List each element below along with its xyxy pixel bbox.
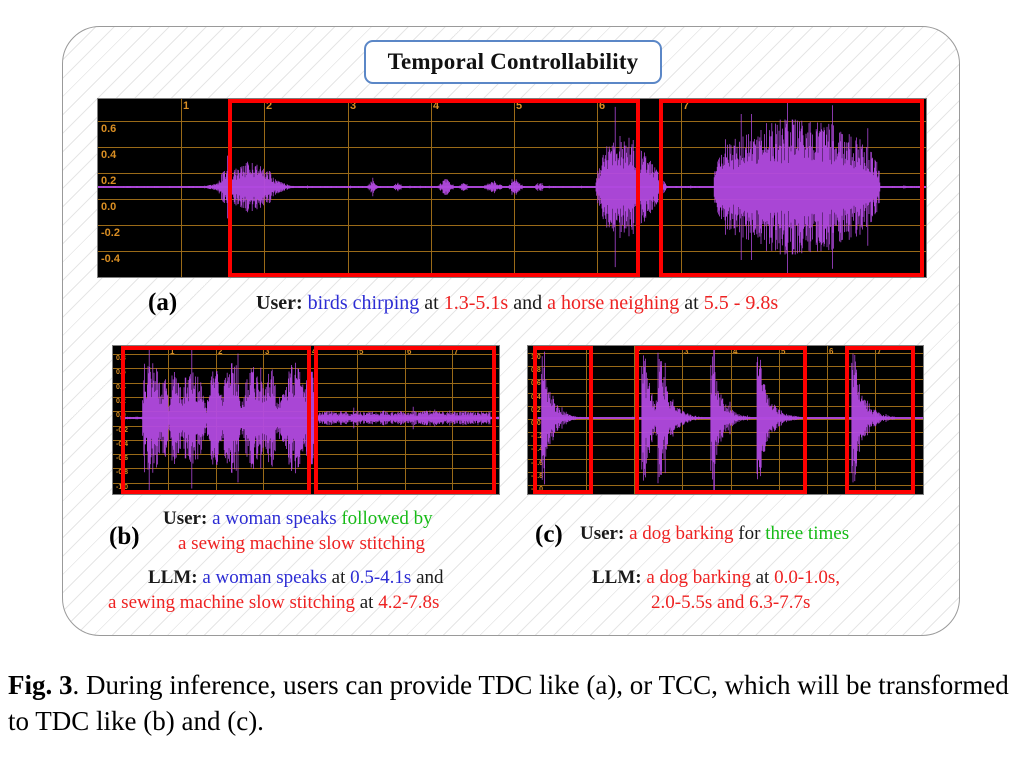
caption-run: a sewing machine slow stitching	[178, 533, 425, 554]
panel-letter-b: (b)	[109, 523, 140, 551]
caption-run: at	[355, 592, 378, 613]
caption-run: User:	[163, 508, 207, 529]
caption-run: a dog barking	[642, 567, 751, 588]
caption-run: User:	[580, 523, 624, 544]
panel-c-caption-line4: 2.0-5.5s and 6.3-7.7s	[651, 592, 810, 614]
waveform-panel-a[interactable]: 0.60.40.20.0-0.2-0.4-0.6-0.81234567	[97, 98, 927, 278]
panel-b-caption-line4: a sewing machine slow stitching at 4.2-7…	[108, 592, 439, 614]
caption-run: for	[734, 523, 766, 544]
caption-run: LLM:	[148, 567, 198, 588]
panel-a-caption-line1: User: birds chirping at 1.3-5.1s and a h…	[256, 292, 778, 315]
caption-run: a horse neighing	[547, 292, 679, 314]
caption-run: and	[508, 292, 547, 314]
waveform-trace	[528, 346, 923, 494]
caption-run: 1.3-5.1s	[444, 292, 508, 314]
page-title: Temporal Controllability	[388, 49, 639, 75]
caption-run: 2.0-5.5s and 6.3-7.7s	[651, 592, 810, 613]
caption-run: 5.5 - 9.8s	[704, 292, 778, 314]
panel-letter-a: (a)	[148, 289, 177, 317]
title-box: Temporal Controllability	[364, 40, 662, 84]
caption-run: a woman speaks	[198, 567, 327, 588]
gridline-horizontal	[98, 277, 926, 278]
caption-run: User:	[256, 292, 303, 314]
panel-b-caption-line1: User: a woman speaks followed by	[163, 508, 433, 530]
caption-run: and	[411, 567, 443, 588]
panel-c-caption-line1: User: a dog barking for three times	[580, 523, 849, 545]
caption-run: 0.5-4.1s	[350, 567, 411, 588]
caption-run: at	[679, 292, 703, 314]
caption-run: followed by	[337, 508, 433, 529]
waveform-trace	[113, 346, 499, 494]
waveform-canvas-b: 0.80.60.40.20.0-0.2-0.4-0.6-0.8-1.012345…	[113, 346, 499, 494]
figure-caption-prefix: Fig. 3	[8, 670, 73, 700]
caption-run: LLM:	[592, 567, 642, 588]
caption-run: birds chirping	[303, 292, 420, 314]
caption-run: at	[751, 567, 774, 588]
figure-caption-body: . During inference, users can provide TD…	[8, 670, 1009, 736]
caption-run: at	[327, 567, 350, 588]
panel-c-caption-line3: LLM: a dog barking at 0.0-1.0s,	[592, 567, 840, 589]
panel-letter-c: (c)	[535, 521, 563, 549]
panel-b-caption-line2: a sewing machine slow stitching	[178, 533, 425, 555]
caption-run: at	[419, 292, 443, 314]
figure-caption: Fig. 3. During inference, users can prov…	[8, 668, 1018, 739]
caption-run: a woman speaks	[207, 508, 336, 529]
caption-run: a dog barking	[624, 523, 733, 544]
waveform-canvas-a: 0.60.40.20.0-0.2-0.4-0.6-0.81234567	[98, 99, 926, 277]
waveform-panel-c[interactable]: 1.00.80.60.40.20.0-0.2-0.4-0.6-0.8-1.012…	[527, 345, 924, 495]
caption-run: 4.2-7.8s	[378, 592, 439, 613]
caption-run: three times	[765, 523, 849, 544]
panel-b-caption-line3: LLM: a woman speaks at 0.5-4.1s and	[148, 567, 444, 589]
waveform-canvas-c: 1.00.80.60.40.20.0-0.2-0.4-0.6-0.8-1.012…	[528, 346, 923, 494]
caption-run: 0.0-1.0s,	[774, 567, 840, 588]
waveform-panel-b[interactable]: 0.80.60.40.20.0-0.2-0.4-0.6-0.8-1.012345…	[112, 345, 500, 495]
caption-run: a sewing machine slow stitching	[108, 592, 355, 613]
waveform-trace	[98, 99, 926, 277]
